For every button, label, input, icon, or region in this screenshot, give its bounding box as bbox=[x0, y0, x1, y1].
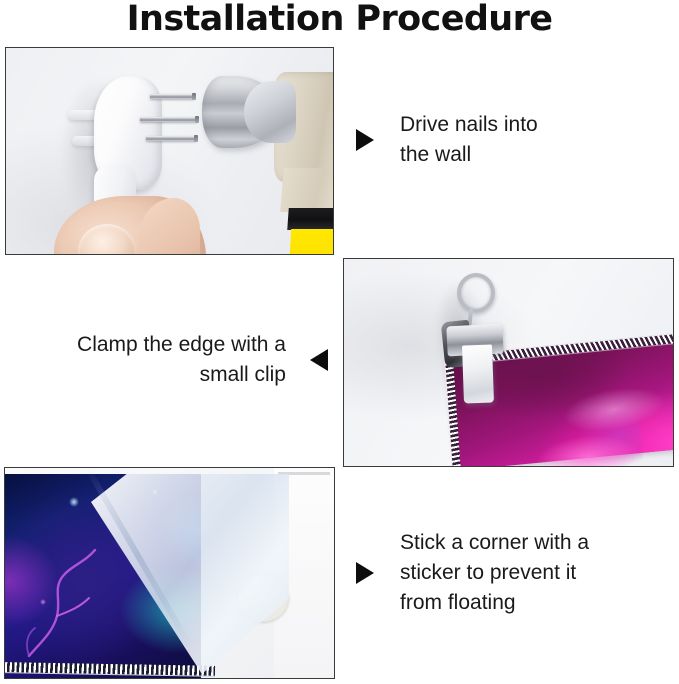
step-1-caption-text: Drive nails into the wall bbox=[400, 110, 538, 170]
page-title: Installation Procedure bbox=[0, 0, 679, 40]
nail-icon-3 bbox=[146, 136, 196, 141]
step-3-caption-line-3: from floating bbox=[400, 588, 589, 618]
hammer-neck bbox=[244, 81, 296, 143]
lightning-branch-pattern bbox=[23, 536, 117, 664]
step-3-caption-line-2: sticker to prevent it bbox=[400, 558, 589, 588]
nail-head-2 bbox=[195, 116, 199, 123]
wall-top-edge-line bbox=[278, 472, 330, 475]
galaxy-tapestry bbox=[5, 474, 201, 679]
clip-hanging-ring-icon bbox=[457, 273, 495, 313]
step-2-photo-inner bbox=[344, 259, 673, 466]
step-1-photo bbox=[5, 47, 334, 255]
step-3-caption-text: Stick a corner with a sticker to prevent… bbox=[400, 528, 589, 618]
step-3-photo bbox=[4, 467, 335, 679]
nail-icon-2 bbox=[140, 117, 197, 122]
hammer-handle-lower bbox=[280, 168, 334, 212]
nail-head-3 bbox=[194, 135, 198, 142]
step-1-caption: Drive nails into the wall bbox=[356, 110, 656, 170]
installation-procedure-page: Installation Procedure bbox=[0, 0, 679, 684]
step-2-caption-text: Clamp the edge with a small clip bbox=[77, 330, 286, 390]
step-3-caption-line-1: Stick a corner with a bbox=[400, 528, 589, 558]
step-1-caption-line-2: the wall bbox=[400, 140, 538, 170]
triangle-right-icon bbox=[356, 129, 374, 151]
triangle-left-icon bbox=[310, 349, 328, 371]
step-3-photo-inner bbox=[5, 468, 334, 678]
nail-icon-1 bbox=[150, 94, 194, 99]
nail-head-1 bbox=[192, 93, 196, 100]
hammer-grip-yellow bbox=[289, 229, 334, 255]
step-2-caption-line-1: Clamp the edge with a bbox=[77, 330, 286, 360]
hammer-grip-black bbox=[287, 208, 334, 230]
step-1-photo-inner bbox=[6, 48, 333, 254]
clip-plate bbox=[462, 344, 494, 403]
step-2-caption: Clamp the edge with a small clip bbox=[20, 330, 328, 390]
wall-right-strip bbox=[274, 468, 334, 678]
adhesive-sticker-icon bbox=[237, 574, 289, 622]
step-2-photo bbox=[343, 258, 674, 467]
triangle-right-icon bbox=[356, 562, 374, 584]
step-2-caption-line-2: small clip bbox=[77, 360, 286, 390]
step-3-caption: Stick a corner with a sticker to prevent… bbox=[356, 528, 656, 618]
step-1-caption-line-1: Drive nails into bbox=[400, 110, 538, 140]
